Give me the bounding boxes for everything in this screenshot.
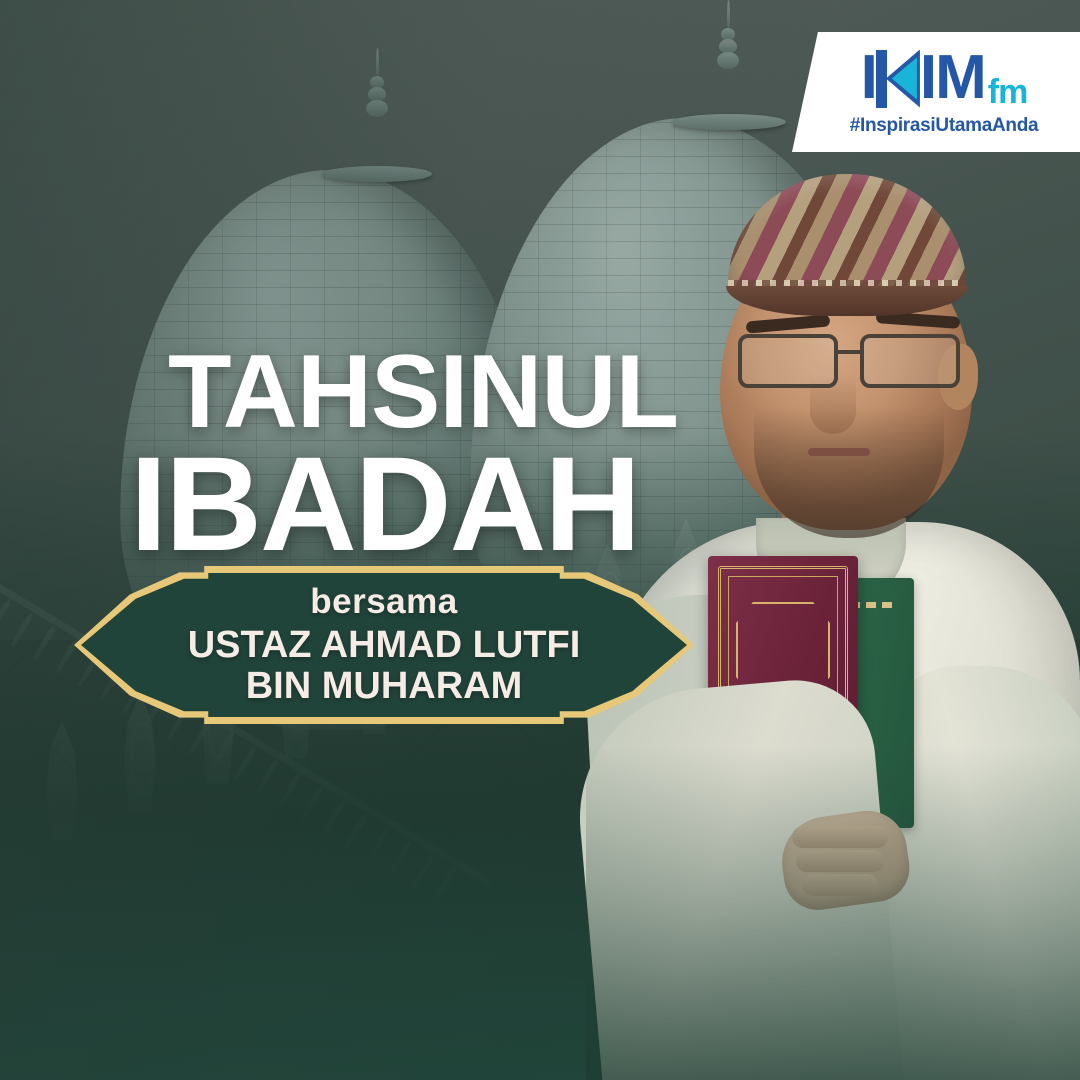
- logo-tagline: #InspirasiUtamaAnda: [850, 115, 1039, 137]
- logo-wordmark: I I M: [861, 48, 985, 110]
- speaker-plaque: bersama USTAZ AHMAD LUTFI BIN MUHARAM: [74, 566, 694, 724]
- title-line-2: IBADAH: [0, 438, 700, 572]
- promotional-poster: TAHSINUL IBADAH bersama USTAZ AHMAD LUTF…: [0, 0, 1080, 1080]
- logo-mark: I I M fm: [861, 48, 1028, 110]
- logo-letter-i2: I: [920, 53, 935, 104]
- logo-letter-i: I: [861, 53, 876, 104]
- plaque-prefix: bersama: [310, 584, 457, 619]
- speaker-name-line-2: BIN MUHARAM: [188, 666, 581, 706]
- logo-fm-suffix: fm: [988, 79, 1028, 110]
- speaker-name-line-1: USTAZ AHMAD LUTFI: [188, 625, 581, 665]
- logo-letter-m: M: [935, 53, 985, 104]
- plaque-text-group: bersama USTAZ AHMAD LUTFI BIN MUHARAM: [74, 566, 694, 724]
- plaque-speaker-name: USTAZ AHMAD LUTFI BIN MUHARAM: [188, 625, 581, 706]
- logo-letter-k-icon: [876, 48, 920, 110]
- ikim-fm-logo: I I M fm #InspirasiUtamaAnda: [792, 32, 1080, 152]
- eyeglasses-icon: [732, 334, 982, 394]
- title-line-1: TAHSINUL: [0, 340, 700, 444]
- page-title: TAHSINUL IBADAH: [0, 340, 700, 572]
- portrait-bottom-fade: [586, 746, 1080, 1080]
- portrait-mouth: [808, 448, 870, 456]
